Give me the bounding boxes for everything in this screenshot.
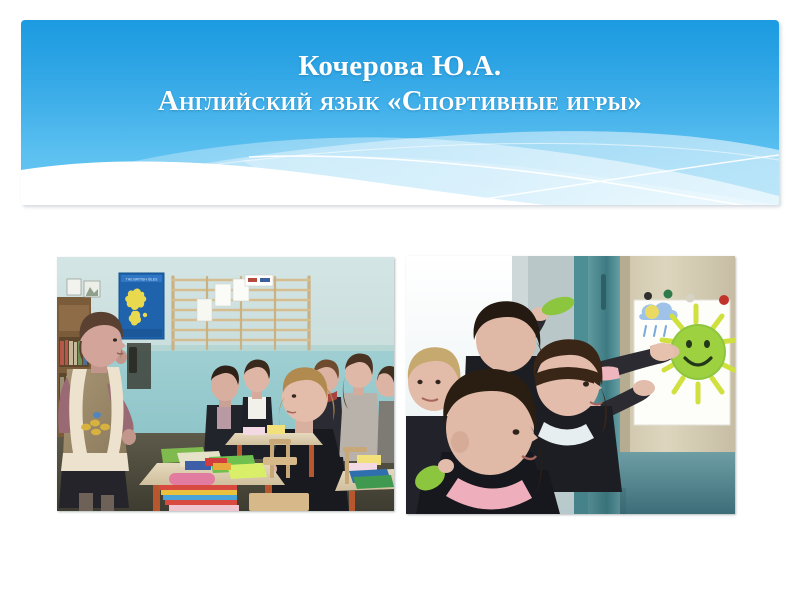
presentation-slide: Кочерова Ю.А. Английский язык «Спортивны… <box>0 0 800 600</box>
children-sun-poster-image <box>406 256 735 514</box>
banner-wave-decoration <box>21 20 779 205</box>
photo-row: THE BRITISH ISLES <box>0 255 800 517</box>
svg-text:THE BRITISH ISLES: THE BRITISH ISLES <box>126 278 158 282</box>
title-banner <box>21 20 779 205</box>
classroom-lesson-image: THE BRITISH ISLES <box>57 257 394 511</box>
classroom-lesson-photo: THE BRITISH ISLES <box>57 257 394 511</box>
children-sun-poster-photo <box>406 256 735 514</box>
